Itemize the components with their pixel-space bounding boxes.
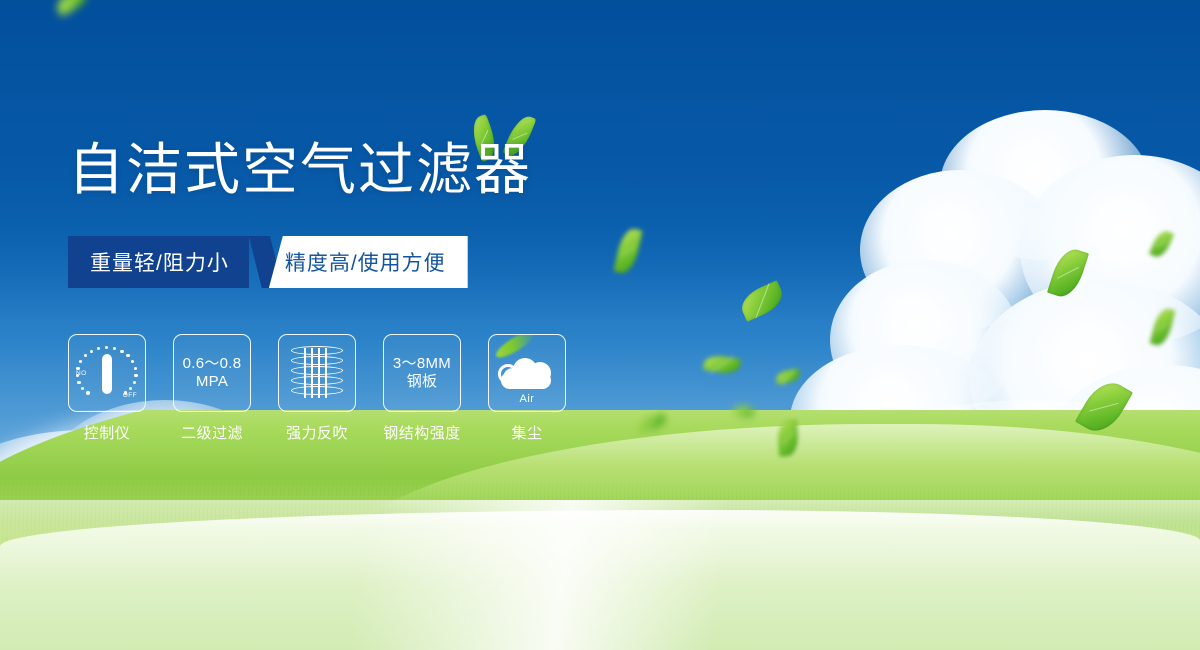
feature-label-filtration: 二级过滤 [181, 422, 243, 443]
pressure-unit: MPA [183, 373, 242, 391]
pressure-text-icon: 0.6～0.8 MPA [173, 334, 251, 412]
promo-banner: 自洁式空气过滤器 重量轻/阻力小 精度高/使用方便 [0, 0, 1200, 650]
feature-label-blowback: 强力反吹 [286, 422, 348, 443]
feature-item-steel[interactable]: 3～8MM 钢板 钢结构强度 [383, 334, 461, 443]
pressure-value: 0.6～0.8 [183, 355, 242, 373]
dial-label-off: OFF [123, 392, 137, 399]
tagline-badges: 重量轻/阻力小 精度高/使用方便 [68, 236, 468, 288]
badge-lightweight: 重量轻/阻力小 [68, 236, 249, 288]
dial-graphic: NO OFF [76, 342, 138, 404]
dial-label-no: NO [76, 370, 87, 377]
spring-graphic [291, 345, 343, 401]
steel-material: 钢板 [393, 373, 451, 391]
air-cloud-graphic: Air [495, 342, 559, 404]
spring-coil-icon [278, 334, 356, 412]
air-green-streak-icon [493, 334, 537, 362]
badge-precision: 精度高/使用方便 [269, 236, 468, 288]
feature-icon-row: NO OFF 控制仪 0.6～0.8 MPA 二级过滤 [68, 334, 566, 443]
feature-item-filtration[interactable]: 0.6～0.8 MPA 二级过滤 [173, 334, 251, 443]
air-cloud-icon: Air [488, 334, 566, 412]
air-label: Air [495, 393, 559, 405]
page-title: 自洁式空气过滤器 [68, 142, 532, 198]
control-dial-icon: NO OFF [68, 334, 146, 412]
feature-label-steel: 钢结构强度 [383, 422, 461, 443]
steel-plate-text-icon: 3～8MM 钢板 [383, 334, 461, 412]
steel-thickness: 3～8MM [393, 355, 451, 373]
feature-item-dust[interactable]: Air 集尘 [488, 334, 566, 443]
feature-label-control: 控制仪 [84, 422, 131, 443]
feature-item-control[interactable]: NO OFF 控制仪 [68, 334, 146, 443]
dial-pointer [102, 354, 112, 394]
feature-item-blowback[interactable]: 强力反吹 [278, 334, 356, 443]
feature-label-dust: 集尘 [511, 422, 542, 443]
